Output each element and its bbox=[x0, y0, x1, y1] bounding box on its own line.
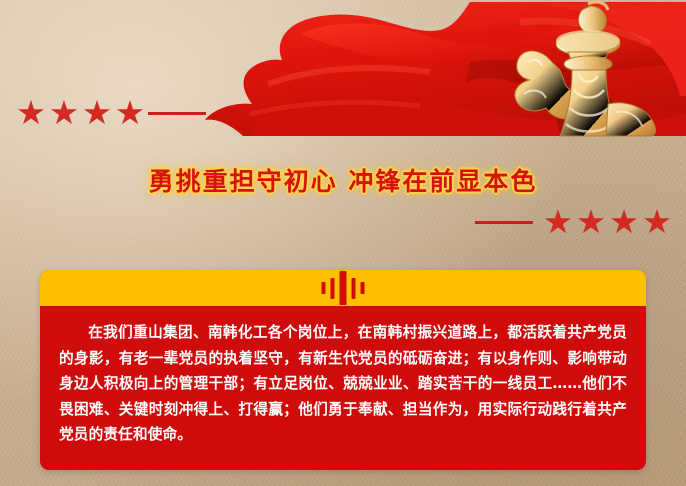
page-title: 勇挑重担守初心 冲锋在前显本色 bbox=[0, 162, 686, 198]
star-row-right bbox=[475, 209, 670, 235]
poster-canvas: 勇挑重担守初心 冲锋在前显本色 在我们重山集团、南韩化工各个岗位上，在南韩村振兴… bbox=[0, 0, 686, 486]
body-paragraph: 在我们重山集团、南韩化工各个岗位上，在南韩村振兴道路上，都活跃着共产党员的身影，… bbox=[59, 320, 627, 448]
content-card: 在我们重山集团、南韩化工各个岗位上，在南韩村振兴道路上，都活跃着共产党员的身影，… bbox=[40, 270, 646, 470]
star-icon bbox=[545, 209, 571, 235]
ornament-bar bbox=[322, 282, 326, 294]
bar-ornament-icon bbox=[322, 270, 365, 306]
horizontal-rule bbox=[475, 221, 533, 224]
star-icon bbox=[644, 209, 670, 235]
star-icon bbox=[18, 100, 44, 126]
ornament-bar bbox=[352, 278, 356, 299]
ornament-bar bbox=[340, 271, 347, 305]
star-icon bbox=[578, 209, 604, 235]
star-icon bbox=[84, 100, 110, 126]
ornament-bar bbox=[331, 278, 335, 299]
star-icon bbox=[51, 100, 77, 126]
card-header-bar bbox=[40, 270, 646, 306]
horizontal-rule bbox=[148, 112, 206, 115]
ornament-bar bbox=[361, 282, 365, 294]
card-body: 在我们重山集团、南韩化工各个岗位上，在南韩村振兴道路上，都活跃着共产党员的身影，… bbox=[40, 306, 646, 458]
star-icon bbox=[611, 209, 637, 235]
star-icon bbox=[117, 100, 143, 126]
star-row-left bbox=[18, 100, 206, 126]
